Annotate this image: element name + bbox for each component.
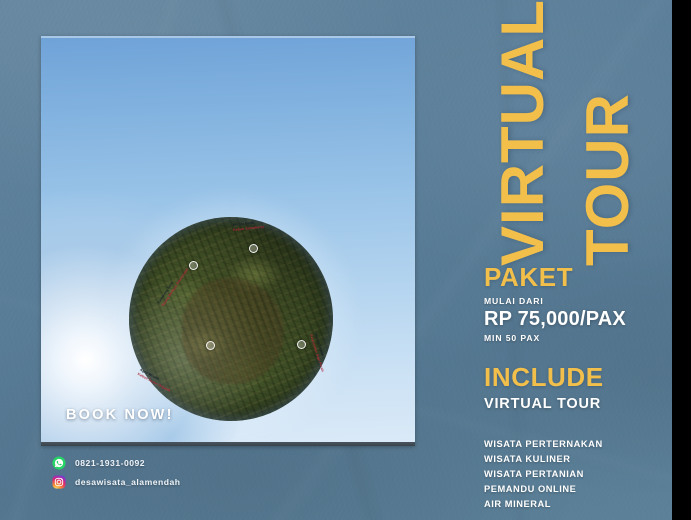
instagram-icon (52, 475, 66, 489)
planet-hotspot[interactable] (297, 340, 306, 349)
planet-hotspot[interactable] (206, 341, 215, 350)
price-prefix: MULAI DARI (484, 296, 666, 306)
feature-item: AIR MINERAL (484, 497, 666, 512)
whatsapp-number: 0821-1931-0092 (75, 458, 145, 468)
feature-item: PEMANDU ONLINE (484, 482, 666, 497)
photo-bottom-edge (41, 442, 415, 446)
include-block: INCLUDE VIRTUAL TOUR (484, 364, 666, 412)
planet-hotspot[interactable] (189, 261, 198, 270)
contact-whatsapp[interactable]: 0821-1931-0092 (52, 456, 181, 470)
planet-hotspot[interactable] (249, 244, 258, 253)
photo-top-edge (41, 36, 415, 38)
headline-tour: TOUR (583, 93, 632, 266)
tiny-planet-photo: Kampung Seni Saung Budaya Alamendah Wisa… (41, 36, 415, 446)
package-title: PAKET (484, 264, 666, 291)
price-value: RP 75,000/PAX (484, 308, 666, 330)
poster-canvas: Kampung Seni Saung Budaya Alamendah Wisa… (0, 0, 691, 520)
instagram-handle: desawisata_alamendah (75, 477, 181, 487)
headline-virtual: VIRTUAL (498, 0, 547, 266)
planet-rim (129, 217, 333, 421)
info-column: PAKET MULAI DARI RP 75,000/PAX MIN 50 PA… (484, 264, 666, 520)
contact-instagram[interactable]: desawisata_alamendah (52, 475, 181, 489)
feature-list: WISATA PERTERNAKAN WISATA KULINER WISATA… (484, 437, 666, 512)
tiny-planet-graphic: Kampung Seni Saung Budaya Alamendah Wisa… (129, 217, 333, 421)
whatsapp-icon (52, 456, 66, 470)
include-subtitle: VIRTUAL TOUR (484, 396, 666, 412)
feature-item: WISATA KULINER (484, 452, 666, 467)
feature-item: WISATA PERTERNAKAN (484, 437, 666, 452)
planet-sphere (129, 217, 333, 421)
book-now-cta[interactable]: BOOK NOW! (66, 407, 174, 423)
contact-list: 0821-1931-0092 (52, 456, 181, 489)
planet-shading (129, 217, 333, 421)
include-title: INCLUDE (484, 364, 666, 391)
price-note: MIN 50 PAX (484, 333, 666, 343)
feature-item: WISATA PERTANIAN (484, 467, 666, 482)
right-edge-strip (672, 0, 691, 520)
